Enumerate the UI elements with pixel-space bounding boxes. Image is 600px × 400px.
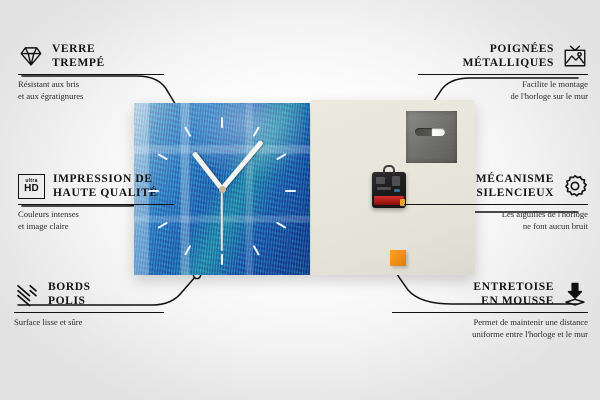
feature-verre-trempe: VERRE TREMPÉ Résistant aux bris et aux é… xyxy=(18,42,200,102)
feature-title: VERRE TREMPÉ xyxy=(52,42,105,70)
feature-description: Permet de maintenir une distance uniform… xyxy=(360,317,588,340)
ultra-hd-icon: ultra HD xyxy=(18,174,45,199)
feature-bords-polis: BORDS POLIS Surface lisse et sûre xyxy=(14,280,194,329)
feature-description: Les aiguilles de l'horloge ne font aucun… xyxy=(378,209,588,232)
clock-tick xyxy=(157,153,168,160)
feature-header: POIGNÉES MÉTALLIQUES xyxy=(384,42,588,70)
feature-rule xyxy=(418,74,588,75)
feature-header: MÉCANISME SILENCIEUX xyxy=(378,172,588,200)
polished-edges-icon xyxy=(14,281,40,307)
feature-rule xyxy=(392,312,588,313)
picture-hanger-icon xyxy=(562,43,588,69)
feature-mecanisme-silencieux: MÉCANISME SILENCIEUX Les aiguilles de l'… xyxy=(378,172,588,232)
feature-header: VERRE TREMPÉ xyxy=(18,42,200,70)
gear-icon xyxy=(562,173,588,199)
ultra-hd-icon-large-text: HD xyxy=(24,184,39,194)
feature-description: Surface lisse et sûre xyxy=(14,317,194,329)
clock-tick xyxy=(221,117,223,128)
clock-tick xyxy=(221,254,223,265)
feature-title: ENTRETOISE EN MOUSSE xyxy=(473,280,554,308)
clock-minute-hand xyxy=(220,140,264,191)
feature-description: Résistant aux bris et aux égratignures xyxy=(18,79,200,102)
metal-hanger-plate xyxy=(406,111,457,163)
feature-entretoise-en-mousse: ENTRETOISE EN MOUSSE Permet de maintenir… xyxy=(360,280,588,340)
feature-description: Couleurs intenses et image claire xyxy=(18,209,214,232)
clock-tick xyxy=(184,245,191,256)
feature-header: BORDS POLIS xyxy=(14,280,194,308)
clock-hand-hub xyxy=(219,186,226,193)
clock-tick xyxy=(253,126,260,137)
clock-tick xyxy=(276,153,287,160)
foam-spacer xyxy=(390,250,406,266)
clock-tick xyxy=(285,190,296,192)
feature-description: Facilite le montage de l'horloge sur le … xyxy=(384,79,588,102)
diamond-icon xyxy=(18,43,44,69)
feature-title: POIGNÉES MÉTALLIQUES xyxy=(463,42,554,70)
feature-rule xyxy=(404,204,588,205)
feature-header: ENTRETOISE EN MOUSSE xyxy=(360,280,588,308)
feature-header: ultra HD IMPRESSION DE HAUTE QUALITÉ xyxy=(18,172,214,200)
feature-title: BORDS POLIS xyxy=(48,280,91,308)
clock-tick xyxy=(253,245,260,256)
foam-spacer-icon xyxy=(562,281,588,307)
feature-impression-hd: ultra HD IMPRESSION DE HAUTE QUALITÉ Cou… xyxy=(18,172,214,232)
feature-rule xyxy=(14,312,164,313)
clock-tick xyxy=(148,190,159,192)
feature-title: MÉCANISME SILENCIEUX xyxy=(476,172,554,200)
hanger-slot xyxy=(415,128,445,136)
feature-rule xyxy=(18,204,174,205)
clock-tick xyxy=(184,126,191,137)
clock-tick xyxy=(276,222,287,229)
feature-title: IMPRESSION DE HAUTE QUALITÉ xyxy=(53,172,158,200)
clock-second-hand xyxy=(221,189,223,251)
feature-poignees-metalliques: POIGNÉES MÉTALLIQUES Facilite le montage… xyxy=(384,42,588,102)
infographic-canvas: VERRE TREMPÉ Résistant aux bris et aux é… xyxy=(0,0,600,400)
feature-rule xyxy=(18,74,164,75)
